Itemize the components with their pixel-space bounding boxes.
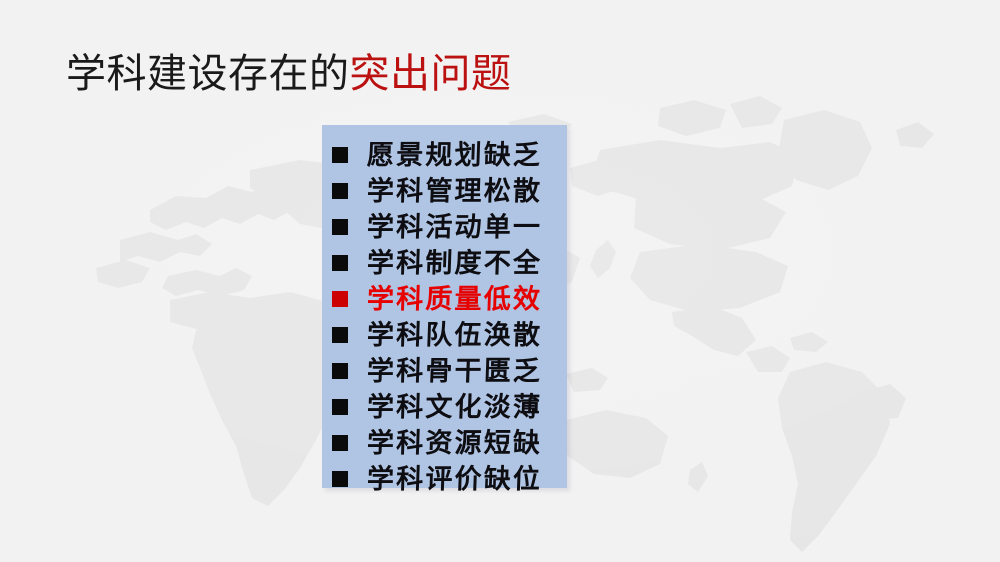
list-item[interactable]: 学科队伍涣散 [322, 317, 567, 353]
page-title-plain: 学科建设存在的 [66, 52, 350, 96]
problem-list-panel: 愿景规划缺乏 学科管理松散 学科活动单一 学科制度不全 学科质量低效 学科队伍涣 [322, 125, 567, 488]
page-title-highlight: 突出问题 [350, 52, 512, 96]
list-item[interactable]: 学科资源短缺 [322, 425, 567, 461]
square-bullet-icon [332, 435, 348, 451]
list-item-label: 愿景规划缺乏 [366, 140, 542, 170]
square-bullet-icon [332, 327, 348, 343]
list-item[interactable]: 愿景规划缺乏 [322, 137, 567, 173]
square-bullet-icon [332, 291, 348, 307]
list-item-label: 学科管理松散 [366, 176, 542, 206]
list-item-label: 学科制度不全 [366, 248, 542, 278]
square-bullet-icon [332, 471, 348, 487]
list-item[interactable]: 学科管理松散 [322, 173, 567, 209]
page-title: 学科建设存在的突出问题 [66, 50, 512, 98]
list-item[interactable]: 学科文化淡薄 [322, 389, 567, 425]
list-item-highlighted[interactable]: 学科质量低效 [322, 281, 567, 317]
list-item-label: 学科评价缺位 [366, 464, 542, 494]
list-item[interactable]: 学科活动单一 [322, 209, 567, 245]
list-item[interactable]: 学科制度不全 [322, 245, 567, 281]
square-bullet-icon [332, 363, 348, 379]
list-item-label: 学科质量低效 [366, 284, 542, 314]
square-bullet-icon [332, 219, 348, 235]
square-bullet-icon [332, 399, 348, 415]
list-item[interactable]: 学科评价缺位 [322, 461, 567, 497]
square-bullet-icon [332, 255, 348, 271]
list-item[interactable]: 学科骨干匮乏 [322, 353, 567, 389]
list-item-label: 学科骨干匮乏 [366, 356, 542, 386]
square-bullet-icon [332, 147, 348, 163]
list-item-label: 学科活动单一 [366, 212, 542, 242]
problem-list: 愿景规划缺乏 学科管理松散 学科活动单一 学科制度不全 学科质量低效 学科队伍涣 [322, 137, 567, 497]
list-item-label: 学科队伍涣散 [366, 320, 542, 350]
list-item-label: 学科文化淡薄 [366, 392, 542, 422]
presentation-slide: 学科建设存在的突出问题 愿景规划缺乏 学科管理松散 学科活动单一 学科制度不全 [0, 0, 1000, 562]
list-item-label: 学科资源短缺 [366, 428, 542, 458]
square-bullet-icon [332, 183, 348, 199]
